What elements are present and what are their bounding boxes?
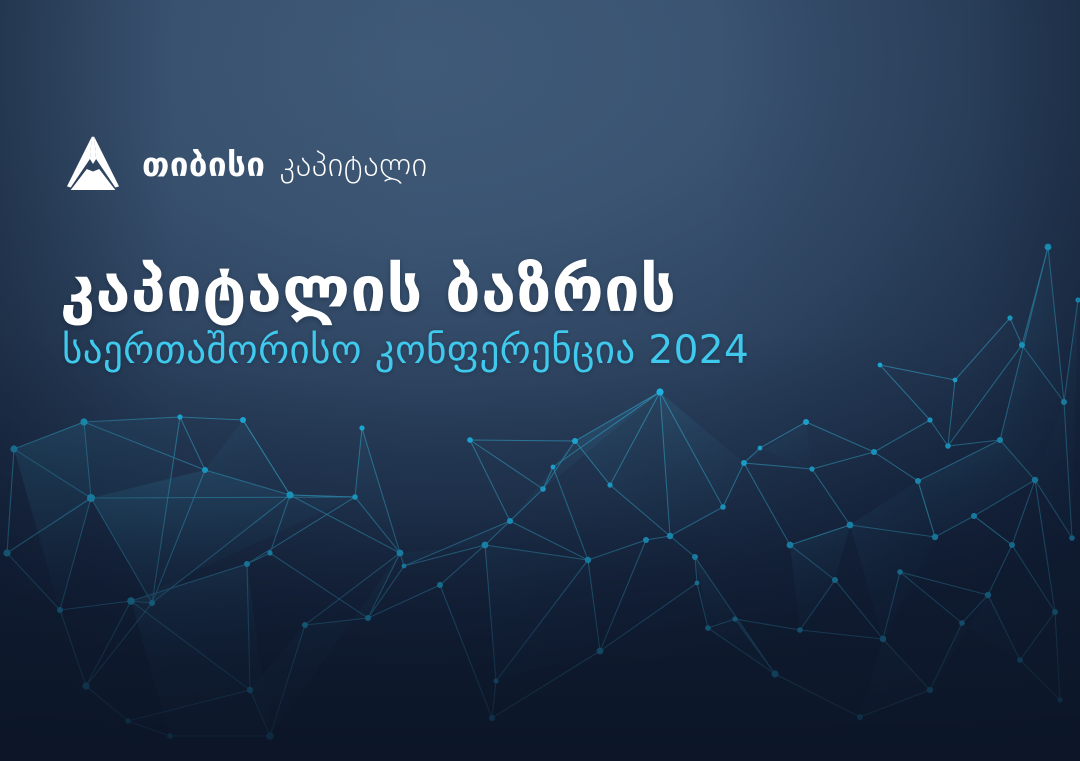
conference-poster: თიბისი კაპიტალი კაპიტალის ბაზრის საერთაშ… [0, 0, 1080, 761]
logo-word-tbc: თიბისი [142, 148, 265, 181]
tbc-capital-logo: თიბისი კაპიტალი [62, 128, 428, 200]
headline-block: კაპიტალის ბაზრის საერთაშორისო კონფერენცი… [60, 258, 749, 373]
conference-title: კაპიტალის ბაზრის [60, 258, 749, 322]
conference-subtitle: საერთაშორისო კონფერენცია 2024 [62, 330, 749, 373]
background-bottom-shading [0, 0, 1080, 761]
logo-word-capital: კაპიტალი [279, 148, 427, 181]
logo-wordmark: თიბისი კაპიტალი [142, 148, 428, 181]
tbc-triangle-logo-icon [62, 133, 124, 195]
